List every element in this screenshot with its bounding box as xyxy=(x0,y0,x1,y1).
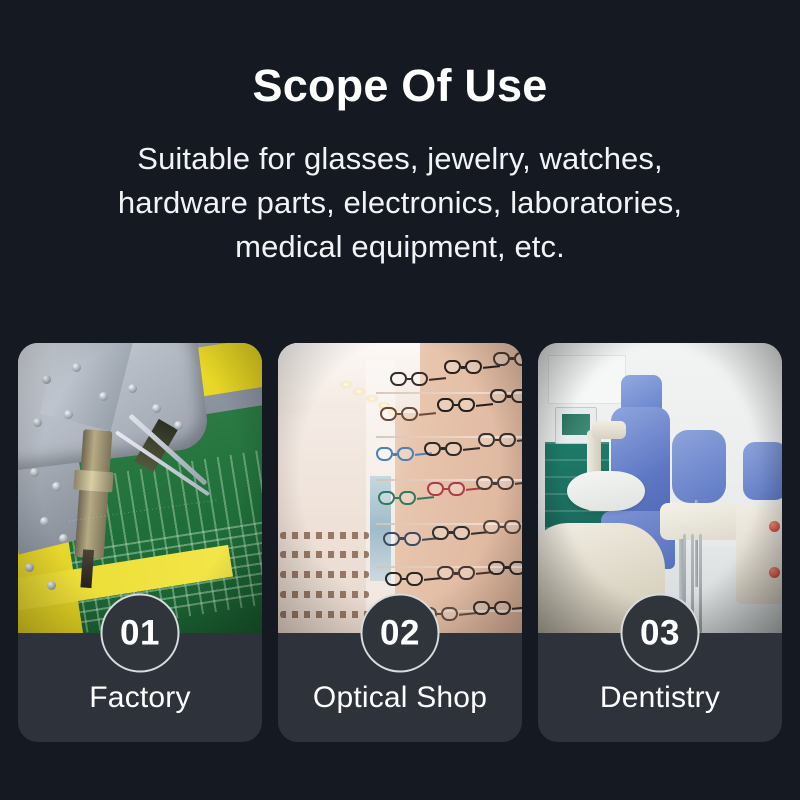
card-number-badge-01: 01 xyxy=(101,594,180,673)
card-number-03: 03 xyxy=(640,615,680,650)
optical-shop-photo xyxy=(278,343,522,633)
scope-of-use-infographic: Scope Of Use Suitable for glasses, jewel… xyxy=(0,0,800,800)
machine-bolts-icon xyxy=(18,343,262,633)
subtitle-line-2: hardware parts, electronics, laboratorie… xyxy=(0,181,800,225)
factory-photo: ········································… xyxy=(18,343,262,633)
page-subtitle: Suitable for glasses, jewelry, watches, … xyxy=(0,137,800,269)
header: Scope Of Use Suitable for glasses, jewel… xyxy=(0,0,800,269)
subtitle-line-1: Suitable for glasses, jewelry, watches, xyxy=(0,137,800,181)
use-case-card-optical-shop[interactable]: Optical Shop 02 xyxy=(278,343,522,742)
eyeglasses-icons xyxy=(278,343,522,633)
use-case-card-dentistry[interactable]: Dentistry 03 xyxy=(538,343,782,742)
card-number-02: 02 xyxy=(380,615,420,650)
use-case-card-factory[interactable]: ········································… xyxy=(18,343,262,742)
card-number-badge-02: 02 xyxy=(361,594,440,673)
page-title: Scope Of Use xyxy=(0,62,800,109)
card-caption-dentistry: Dentistry xyxy=(538,681,782,715)
subtitle-line-3: medical equipment, etc. xyxy=(0,225,800,269)
use-case-card-row: ········································… xyxy=(18,343,782,742)
card-caption-optical-shop: Optical Shop xyxy=(278,681,522,715)
card-number-badge-03: 03 xyxy=(621,594,700,673)
dentistry-photo xyxy=(538,343,782,633)
card-caption-factory: Factory xyxy=(18,681,262,715)
card-number-01: 01 xyxy=(120,615,160,650)
